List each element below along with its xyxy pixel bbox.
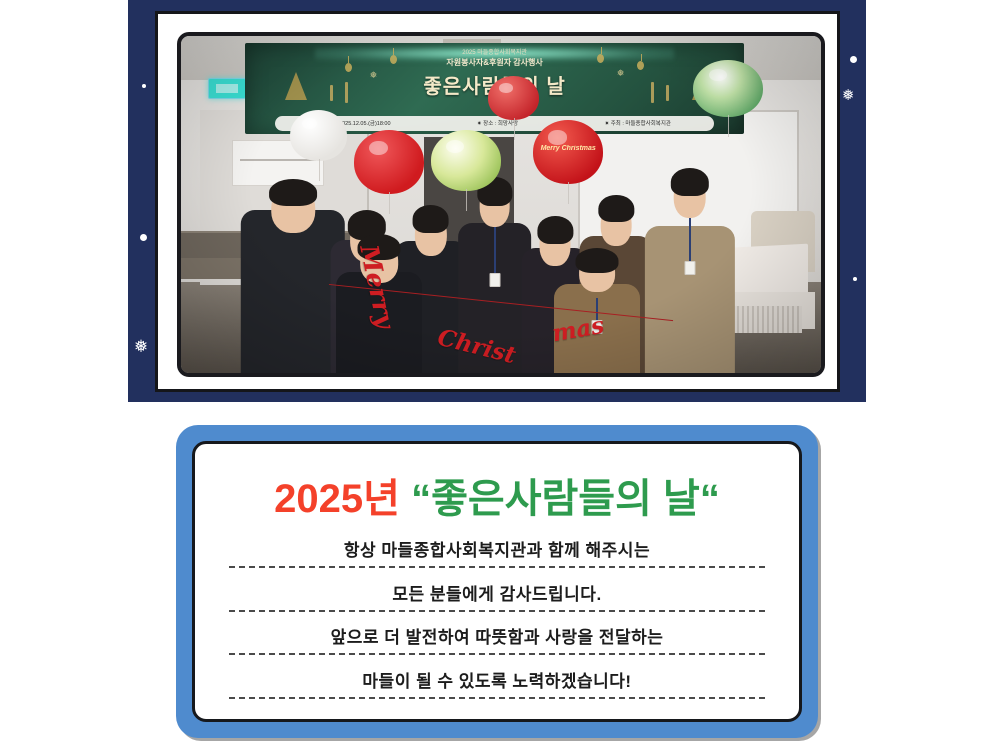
- message-line: 항상 마들종합사회복지관과 함께 해주시는: [229, 536, 765, 568]
- lanyard: [689, 218, 691, 261]
- banner-superscript: 2025 마들종합사회복지관: [245, 47, 744, 56]
- message-card-inner: 2025년 “좋은사람들의 날“ 항상 마들종합사회복지관과 함께 해주시는 모…: [192, 441, 802, 722]
- banner-footer-place: ✷ 장소 : 희망사랑: [477, 119, 518, 127]
- person-hair: [269, 179, 317, 206]
- message-line: 앞으로 더 발전하여 따뜻함과 사랑을 전달하는: [229, 623, 765, 655]
- person: [642, 157, 738, 373]
- message-line: 마들이 될 수 있도록 노력하겠습니다!: [229, 667, 765, 699]
- message-line: 모든 분들에게 감사드립니다.: [229, 580, 765, 612]
- card-title: 2025년 “좋은사람들의 날“: [229, 466, 765, 524]
- balloon-foil-green: [693, 60, 763, 117]
- balloon-white: [290, 110, 348, 161]
- balloon-label: Merry Christmas: [533, 145, 603, 152]
- deco-dot: [853, 277, 857, 281]
- exit-sign-icon: [208, 78, 246, 99]
- card-title-main: 좋은사람들의 날: [431, 477, 700, 521]
- balloon-multicolor: [431, 130, 501, 191]
- person-hair: [575, 248, 618, 274]
- message-card: 2025년 “좋은사람들의 날“ 항상 마들종합사회복지관과 함께 해주시는 모…: [176, 425, 818, 738]
- banner-subtitle: 자원봉사자&후원자 감사행사: [245, 57, 744, 68]
- snowflake-icon: ❅: [842, 88, 855, 103]
- banner-footer-host: ✷ 주최 : 마들종합사회복지관: [605, 119, 671, 127]
- photo-white-frame: ❅ ❅ 2025 마들종합사회복지관 자원봉사자&후원자 감사행사 좋은사람들의…: [155, 11, 840, 392]
- id-badge: [489, 273, 500, 287]
- card-title-quote-open: “: [411, 477, 431, 521]
- snowflake-icon: ❅: [134, 338, 148, 355]
- poster-page: { "colors": { "navy_panel": "#22305e", "…: [0, 0, 1000, 750]
- card-title-year: 2025년: [274, 477, 400, 521]
- photo-panel: ❅ ❅: [128, 0, 866, 402]
- balloon-merry-christmas: Merry Christmas: [533, 120, 603, 184]
- lanyard: [494, 227, 496, 273]
- balloon-red-small: [488, 76, 539, 120]
- person: [552, 238, 642, 373]
- person-hair: [671, 168, 709, 196]
- balloon-red: [354, 130, 424, 194]
- group-photo: ❅ ❅ 2025 마들종합사회복지관 자원봉사자&후원자 감사행사 좋은사람들의…: [177, 32, 825, 377]
- deco-dot: [850, 56, 857, 63]
- card-title-quote-close: “: [700, 477, 720, 521]
- person-hair: [599, 195, 634, 222]
- deco-dot: [142, 84, 146, 88]
- deco-dot: [140, 234, 147, 241]
- id-badge: [684, 261, 695, 275]
- message-lines: 항상 마들종합사회복지관과 함께 해주시는 모든 분들에게 감사드립니다. 앞으…: [229, 536, 765, 703]
